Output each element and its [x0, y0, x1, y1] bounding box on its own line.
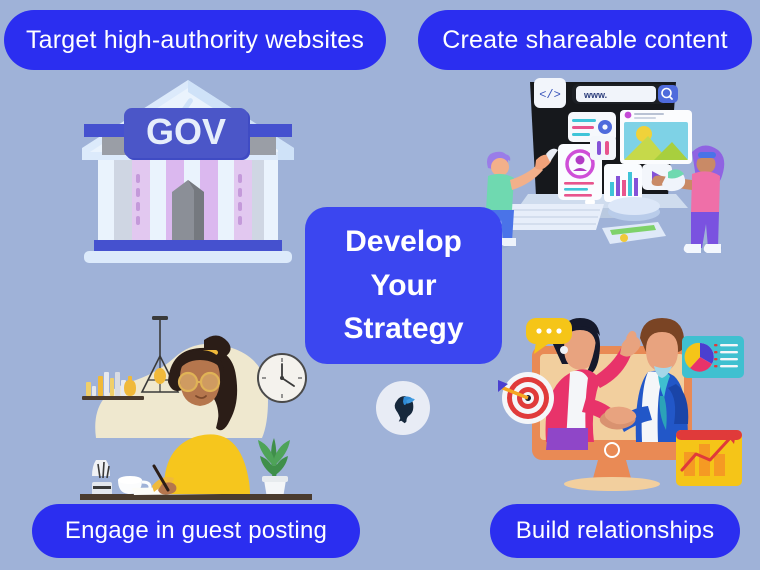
pill-label: Create shareable content [442, 26, 728, 55]
search-button [658, 85, 678, 103]
column [98, 160, 114, 240]
base-band [94, 240, 282, 251]
desk-disc-top [608, 197, 660, 215]
content-creation-illustration: www. </> [462, 72, 758, 258]
bar [634, 178, 638, 196]
pants [691, 212, 719, 248]
browser-url-text: www. [583, 90, 607, 100]
growth-chart-card [676, 430, 742, 486]
content-creation-svg: www. </> [462, 72, 758, 258]
pie-chart-card [682, 336, 744, 378]
skirt [546, 428, 588, 450]
potted-plant [258, 438, 290, 498]
shelf-items [86, 372, 136, 396]
code-icon: </> [539, 88, 561, 102]
pill-target-high-authority-websites[interactable]: Target high-authority websites [4, 10, 386, 70]
lamp-mount [152, 316, 168, 320]
writer-svg [68, 306, 324, 506]
top [691, 171, 720, 214]
woman-profile-logo-badge[interactable] [376, 381, 430, 435]
avatar-small [625, 112, 632, 119]
profile-line [564, 182, 594, 185]
column [252, 160, 264, 240]
glasses-lens [179, 373, 197, 391]
profile-line [564, 188, 588, 191]
strategy-line-2: Your [370, 264, 436, 308]
woman-profile-logo-icon [386, 391, 420, 425]
bar [628, 172, 632, 196]
pause-bar [597, 141, 601, 155]
list-line [572, 126, 594, 129]
target-dartboard-icon [498, 372, 554, 424]
lamp-bulb [154, 368, 166, 384]
bar [622, 180, 626, 196]
pause-card [590, 136, 616, 160]
gov-building-svg: GOV [72, 74, 304, 266]
list-line [572, 119, 596, 122]
list-line [572, 133, 590, 136]
column [234, 160, 252, 240]
column [114, 160, 132, 240]
column [132, 160, 150, 240]
pill-engage-in-guest-posting[interactable]: Engage in guest posting [32, 504, 360, 558]
column [150, 160, 166, 240]
pen-cup [92, 460, 112, 496]
shelf [82, 396, 144, 400]
infographic-canvas: GOV www. </> [0, 0, 760, 570]
clock-center [280, 376, 284, 380]
column [264, 160, 278, 240]
profile-head [576, 156, 585, 165]
bar [610, 182, 614, 196]
bar [616, 176, 620, 196]
profile-line [564, 194, 592, 197]
writer-at-desk-illustration [68, 306, 324, 506]
develop-your-strategy-card[interactable]: Develop Your Strategy [305, 207, 502, 364]
pause-bar [605, 141, 609, 155]
base-step [84, 251, 292, 263]
desk-top [80, 494, 312, 500]
gov-sign-text: GOV [146, 111, 226, 152]
monitor-base [564, 477, 660, 491]
caption-line [634, 117, 656, 119]
pill-label: Build relationships [516, 517, 715, 545]
shoe [500, 238, 516, 246]
glasses-lens [201, 373, 219, 391]
caption-line [634, 113, 664, 115]
pill-label: Target high-authority websites [26, 26, 364, 55]
business-handshake-illustration [498, 302, 750, 508]
sweater [164, 434, 250, 494]
gear-hole [602, 124, 607, 129]
column [218, 160, 234, 240]
government-building-illustration: GOV [72, 74, 304, 266]
sunglasses [698, 152, 716, 158]
pill-label: Engage in guest posting [65, 517, 327, 545]
face [646, 332, 678, 372]
head [491, 158, 509, 176]
shirt [486, 174, 514, 210]
pill-create-shareable-content[interactable]: Create shareable content [418, 10, 752, 70]
pill-build-relationships[interactable]: Build relationships [490, 504, 740, 558]
strategy-line-1: Develop [345, 220, 462, 264]
strategy-line-3: Strategy [343, 307, 463, 351]
shoe [684, 244, 701, 253]
earring [560, 346, 568, 354]
coin-icon [620, 234, 628, 242]
shoe [704, 244, 721, 253]
relationships-svg [498, 302, 750, 508]
